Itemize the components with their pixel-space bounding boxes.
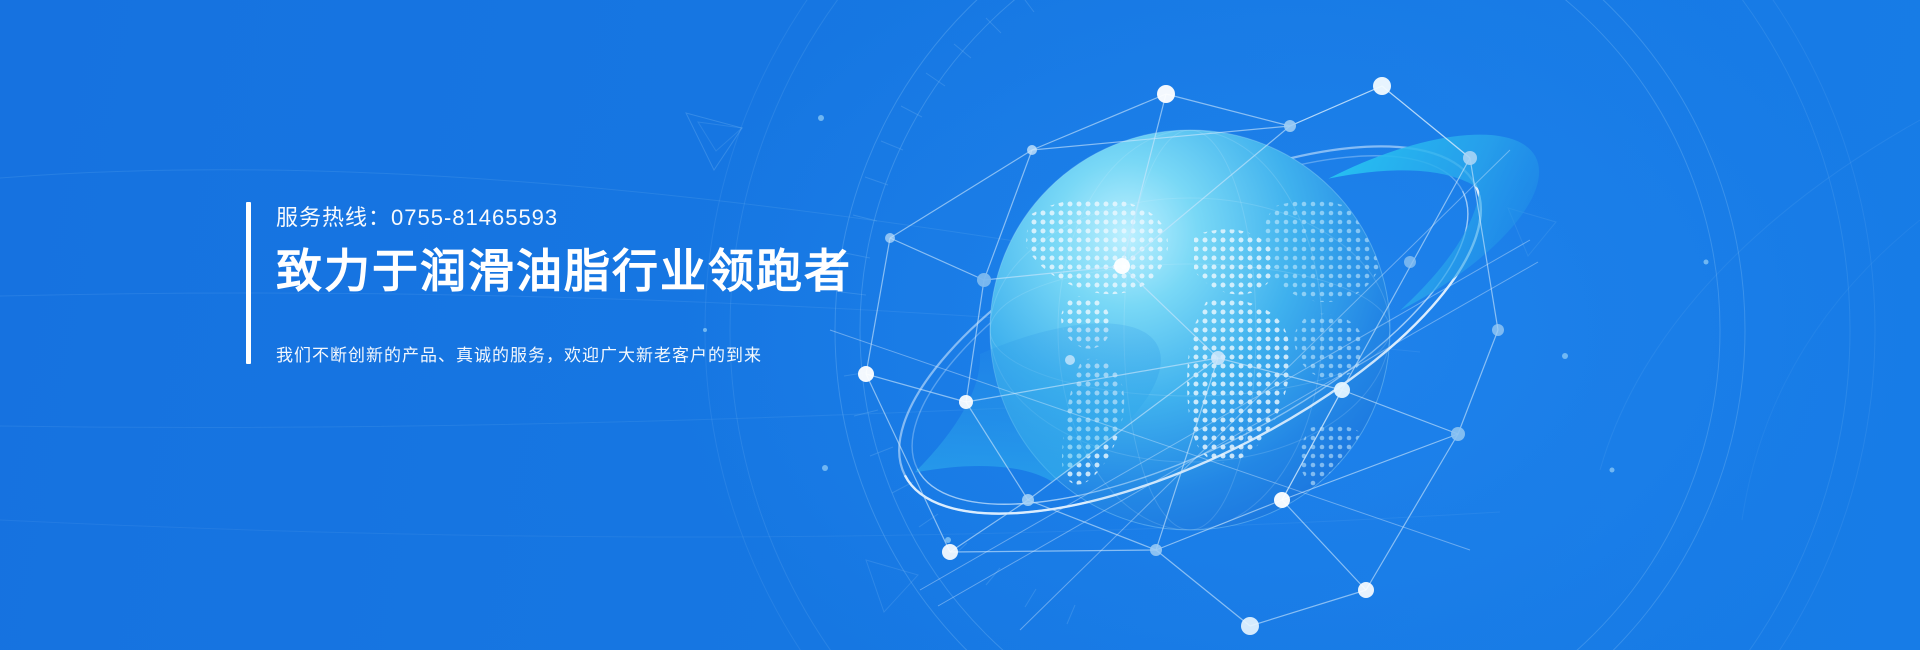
hero-text-block: 服务热线：0755-81465593 致力于润滑油脂行业领跑者 我们不断创新的产…: [246, 202, 852, 364]
service-hotline: 服务热线：0755-81465593: [276, 207, 852, 229]
hero-text-column: 服务热线：0755-81465593 致力于润滑油脂行业领跑者 我们不断创新的产…: [251, 202, 852, 364]
page-title: 致力于润滑油脂行业领跑者: [276, 248, 852, 294]
globe-network-graphic: [770, 30, 1570, 650]
page-subtitle: 我们不断创新的产品、真诚的服务，欢迎广大新老客户的到来: [276, 347, 852, 364]
hero-banner: 服务热线：0755-81465593 致力于润滑油脂行业领跑者 我们不断创新的产…: [0, 0, 1920, 650]
